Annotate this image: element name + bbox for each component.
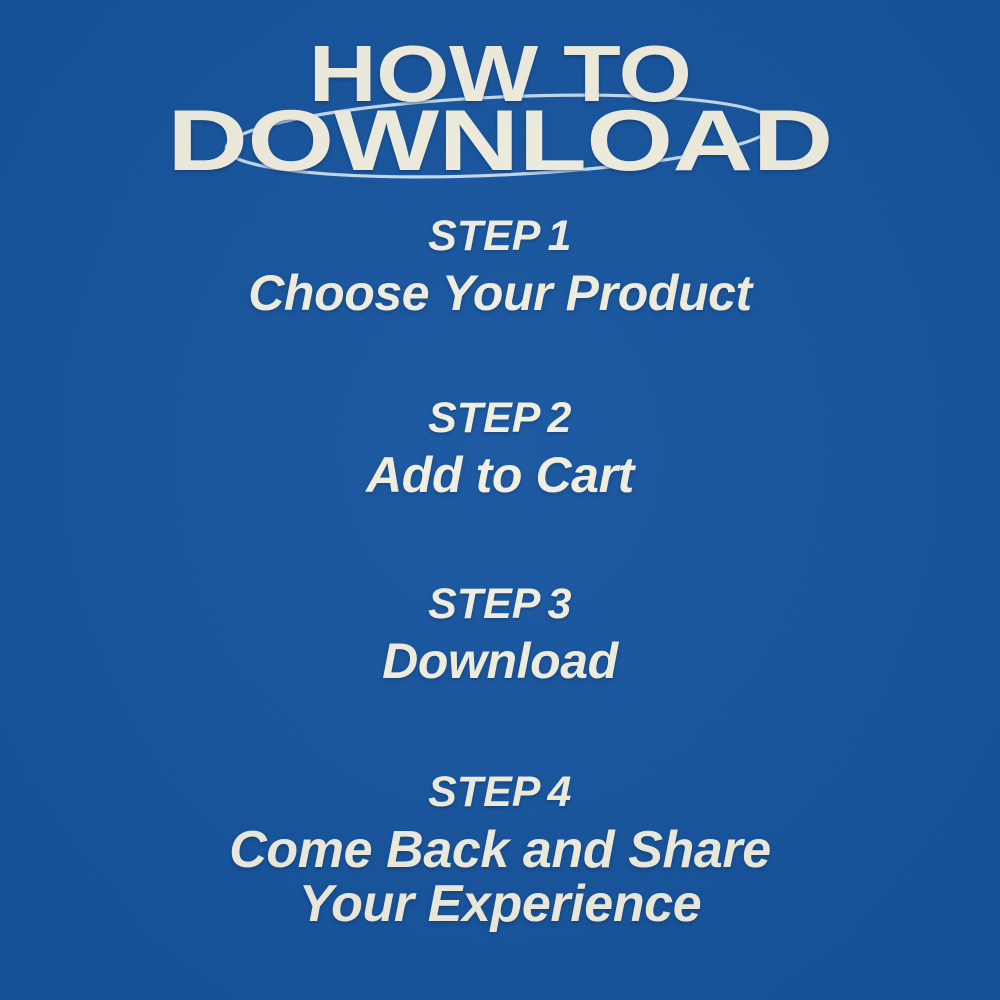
step-4-label: STEP4	[0, 770, 1000, 815]
step-1-description: Choose Your Product	[0, 267, 1000, 319]
title-block: HOW TO DOWNLOAD	[0, 26, 1000, 191]
step-3-label-number: 3	[547, 580, 571, 628]
step-2-label: STEP2	[0, 396, 1000, 441]
step-item-2: STEP2 Add to Cart	[0, 396, 1000, 501]
step-3-label-word: STEP	[428, 580, 540, 628]
title-line-download: DOWNLOAD	[0, 98, 1000, 184]
step-2-label-word: STEP	[428, 394, 540, 442]
step-1-description-line-1: Choose Your Product	[0, 267, 1000, 319]
step-1-label-number: 1	[547, 212, 571, 260]
step-2-description-line-1: Add to Cart	[0, 449, 1000, 501]
step-4-label-number: 4	[547, 768, 571, 816]
step-item-4: STEP4 Come Back and Share Your Experienc…	[0, 770, 1000, 931]
step-1-label: STEP1	[0, 214, 1000, 259]
step-4-label-word: STEP	[428, 768, 540, 816]
how-to-download-poster: HOW TO DOWNLOAD STEP1 Choose Your Produc…	[0, 0, 1000, 1000]
steps-list: STEP1 Choose Your Product STEP2 Add to C…	[0, 200, 1000, 960]
step-item-1: STEP1 Choose Your Product	[0, 214, 1000, 319]
step-3-description: Download	[0, 635, 1000, 687]
step-2-description: Add to Cart	[0, 449, 1000, 501]
step-3-description-line-1: Download	[0, 635, 1000, 687]
step-item-3: STEP3 Download	[0, 582, 1000, 687]
step-4-description: Come Back and Share Your Experience	[0, 823, 1000, 931]
step-4-description-line-2: Your Experience	[0, 877, 1000, 931]
step-2-label-number: 2	[547, 394, 571, 442]
step-3-label: STEP3	[0, 582, 1000, 627]
step-4-description-line-1: Come Back and Share	[0, 823, 1000, 877]
step-1-label-word: STEP	[428, 212, 540, 260]
